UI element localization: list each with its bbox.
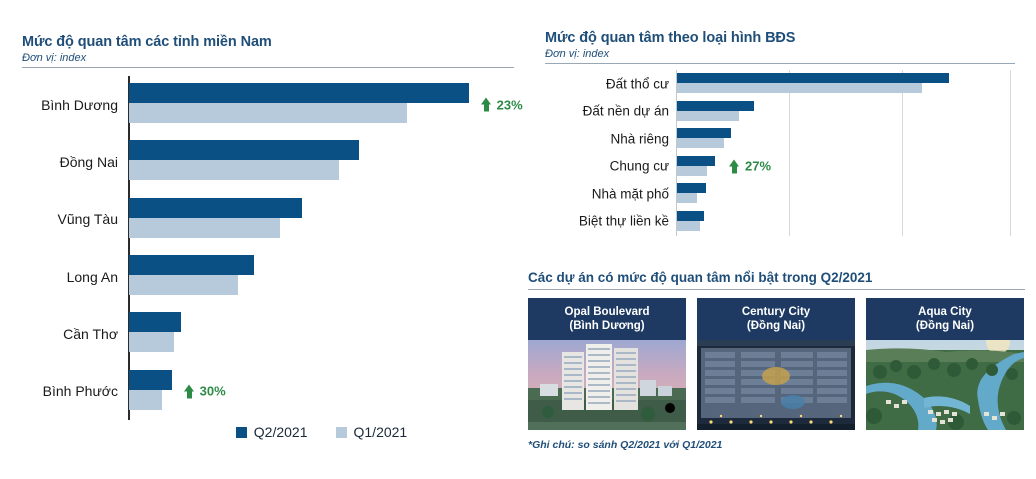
- project-name: Century City: [742, 305, 810, 319]
- property-type-bar-row: Đất nền dự án: [545, 98, 1015, 126]
- bar-q2-2021: [677, 211, 704, 221]
- growth-percent-label: 30%: [200, 384, 226, 399]
- project-name: Aqua City: [918, 305, 972, 319]
- bar-q2-2021: [677, 156, 715, 166]
- province-bar-row: Vũng Tàu: [22, 191, 514, 248]
- legend-label: Q1/2021: [354, 424, 408, 440]
- growth-annotation: 23%: [481, 97, 523, 112]
- property-types-title-divider: [545, 63, 1015, 64]
- project-photo: [866, 328, 1024, 430]
- infographic-root: Mức độ quan tâm các tỉnh miền Nam Đơn vị…: [0, 0, 1036, 479]
- growth-annotation: 30%: [184, 384, 226, 399]
- arrow-up-icon: [184, 384, 195, 398]
- province-bar-group: [129, 312, 181, 352]
- property-types-chart-title: Mức độ quan tâm theo loại hình BĐS: [545, 30, 1015, 46]
- bar-q1-2021: [129, 275, 238, 295]
- footnote-text: *Ghi chú: so sánh Q2/2021 với Q1/2021: [528, 439, 1025, 451]
- property-type-category-label: Chung cư: [545, 159, 669, 174]
- province-bar-row: Bình Phước30%: [22, 363, 514, 420]
- project-photo: [697, 328, 855, 430]
- province-category-label: Bình Phước: [22, 383, 118, 399]
- province-bar-group: [129, 198, 302, 238]
- property-type-bar-group: [677, 183, 706, 203]
- bar-q1-2021: [129, 160, 339, 180]
- property-type-bar-group: [677, 128, 731, 148]
- legend-item[interactable]: Q2/2021: [236, 424, 308, 440]
- property-type-category-label: Biệt thự liền kề: [545, 214, 669, 229]
- bar-q1-2021: [677, 221, 700, 231]
- province-bar-row: Cần Thơ: [22, 305, 514, 362]
- bar-q2-2021: [129, 370, 172, 390]
- bar-q1-2021: [677, 83, 922, 93]
- province-bar-row: Bình Dương23%: [22, 76, 514, 133]
- provinces-chart-unit: Đơn vị: index: [22, 52, 514, 64]
- bar-q2-2021: [129, 198, 302, 218]
- growth-percent-label: 27%: [745, 159, 771, 174]
- property-type-bar-row: Chung cư27%: [545, 153, 1015, 181]
- arrow-up-icon: [729, 159, 740, 173]
- legend-swatch-icon: [336, 427, 347, 438]
- bar-q1-2021: [129, 332, 174, 352]
- bar-q2-2021: [129, 312, 181, 332]
- province-bar-group: [129, 255, 254, 295]
- property-type-bar-group: [677, 73, 949, 93]
- project-card[interactable]: Century City(Đồng Nai): [697, 298, 855, 430]
- property-type-bar-row: Nhà riêng: [545, 125, 1015, 153]
- bar-q2-2021: [129, 255, 254, 275]
- project-location: (Bình Dương): [569, 319, 644, 333]
- featured-projects-divider: [528, 289, 1025, 290]
- province-bar-group: [129, 370, 172, 410]
- province-bar-row: Long An: [22, 248, 514, 305]
- property-types-bar-chart: Đất thổ cưĐất nền dự ánNhà riêngChung cư…: [545, 70, 1015, 240]
- bar-q1-2021: [677, 111, 739, 121]
- project-card-header: Century City(Đồng Nai): [697, 298, 855, 340]
- legend-item[interactable]: Q1/2021: [336, 424, 408, 440]
- property-type-bar-row: Biệt thự liền kề: [545, 208, 1015, 236]
- legend-swatch-icon: [236, 427, 247, 438]
- bar-q1-2021: [677, 166, 707, 176]
- bar-q1-2021: [677, 138, 724, 148]
- property-type-bar-group: [677, 211, 704, 231]
- property-type-category-label: Nhà mặt phố: [545, 186, 669, 201]
- property-type-bar-row: Đất thổ cư: [545, 70, 1015, 98]
- project-photo: [528, 328, 686, 430]
- provinces-bar-chart: Bình Dương23%Đồng NaiVũng TàuLong AnCần …: [22, 76, 514, 436]
- provinces-title-divider: [22, 67, 514, 68]
- property-type-category-label: Nhà riêng: [545, 131, 669, 146]
- project-location: (Đồng Nai): [747, 319, 805, 333]
- bar-q2-2021: [129, 83, 469, 103]
- province-category-label: Vũng Tàu: [22, 211, 118, 227]
- bar-q2-2021: [677, 128, 731, 138]
- bar-q2-2021: [677, 183, 706, 193]
- project-location: (Đồng Nai): [916, 319, 974, 333]
- featured-projects-title: Các dự án có mức độ quan tâm nổi bật tro…: [528, 270, 1025, 285]
- project-card-header: Opal Boulevard(Bình Dương): [528, 298, 686, 340]
- project-card[interactable]: Opal Boulevard(Bình Dương): [528, 298, 686, 430]
- province-bar-group: [129, 83, 469, 123]
- featured-projects-section: Các dự án có mức độ quan tâm nổi bật tro…: [528, 270, 1025, 451]
- bar-q1-2021: [129, 218, 280, 238]
- property-type-bar-group: [677, 156, 715, 176]
- growth-annotation: 27%: [729, 159, 771, 174]
- provinces-panel: Mức độ quan tâm các tỉnh miền Nam Đơn vị…: [22, 34, 514, 436]
- province-category-label: Cần Thơ: [22, 326, 118, 342]
- bar-q2-2021: [677, 73, 949, 83]
- provinces-chart-title: Mức độ quan tâm các tỉnh miền Nam: [22, 34, 514, 50]
- growth-percent-label: 23%: [497, 97, 523, 112]
- legend-label: Q2/2021: [254, 424, 308, 440]
- province-bar-group: [129, 140, 359, 180]
- bar-q1-2021: [129, 390, 162, 410]
- arrow-up-icon: [481, 98, 492, 112]
- bar-q2-2021: [129, 140, 359, 160]
- property-type-bar-row: Nhà mặt phố: [545, 180, 1015, 208]
- province-category-label: Đồng Nai: [22, 154, 118, 170]
- province-category-label: Long An: [22, 269, 118, 285]
- bar-q2-2021: [677, 101, 754, 111]
- featured-projects-cards: Opal Boulevard(Bình Dương): [528, 298, 1025, 430]
- project-card[interactable]: Aqua City(Đồng Nai): [866, 298, 1024, 430]
- property-type-bar-group: [677, 101, 754, 121]
- bar-q1-2021: [129, 103, 407, 123]
- project-card-header: Aqua City(Đồng Nai): [866, 298, 1024, 340]
- provinces-legend: Q2/2021Q1/2021: [129, 424, 514, 440]
- bar-q1-2021: [677, 193, 697, 203]
- property-types-chart-unit: Đơn vị: index: [545, 48, 1015, 60]
- province-category-label: Bình Dương: [22, 97, 118, 113]
- province-bar-row: Đồng Nai: [22, 133, 514, 190]
- project-name: Opal Boulevard: [565, 305, 650, 319]
- property-type-category-label: Đất thổ cư: [545, 76, 669, 91]
- property-types-panel: Mức độ quan tâm theo loại hình BĐS Đơn v…: [545, 30, 1015, 240]
- property-type-category-label: Đất nền dự án: [545, 104, 669, 119]
